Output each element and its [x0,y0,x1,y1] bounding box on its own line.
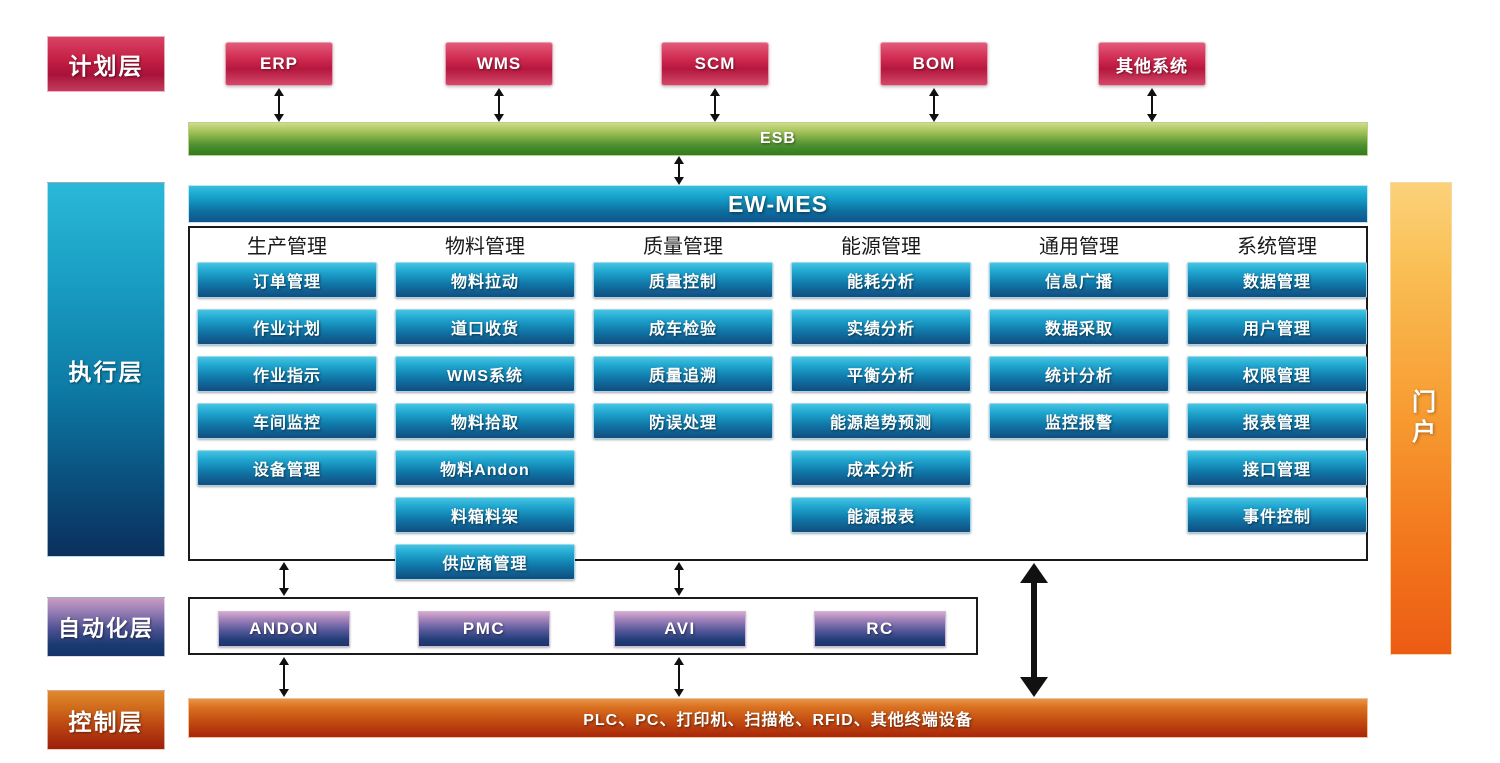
module-button-user-management[interactable]: 用户管理 [1187,309,1367,345]
module-button-performance-analysis[interactable]: 实绩分析 [791,309,971,345]
connector-bom-esb [927,88,941,122]
control-layer-bar: PLC、PC、打印机、扫描枪、RFID、其他终端设备 [188,698,1368,738]
planning-system-erp[interactable]: ERP [225,42,333,86]
mes-title: EW-MES [728,191,828,218]
module-button-data-management[interactable]: 数据管理 [1187,262,1367,298]
portal-label: 门户 [1404,389,1439,449]
module-button-wms-system[interactable]: WMS系统 [395,356,575,392]
module-button-work-plan[interactable]: 作业计划 [197,309,377,345]
module-button-quality-traceability[interactable]: 质量追溯 [593,356,773,392]
module-button-report-management[interactable]: 报表管理 [1187,403,1367,439]
planning-system-other[interactable]: 其他系统 [1098,42,1206,86]
module-column-material-title: 物料管理 [392,232,578,262]
module-button-balance-analysis[interactable]: 平衡分析 [791,356,971,392]
layer-tag-automation-label: 自动化层 [58,611,154,643]
module-column-system-title: 系统管理 [1184,232,1370,262]
module-button-material-picking[interactable]: 物料拾取 [395,403,575,439]
module-button-vehicle-inspection[interactable]: 成车检验 [593,309,773,345]
module-column-common-title: 通用管理 [986,232,1172,262]
module-column-system: 系统管理 数据管理 用户管理 权限管理 报表管理 接口管理 事件控制 [1184,228,1370,544]
mes-module-container: 生产管理 订单管理 作业计划 作业指示 车间监控 设备管理 物料管理 物料拉动 … [188,226,1368,561]
module-button-permission-management[interactable]: 权限管理 [1187,356,1367,392]
module-button-interface-management[interactable]: 接口管理 [1187,450,1367,486]
module-button-shopfloor-monitor[interactable]: 车间监控 [197,403,377,439]
automation-item-avi[interactable]: AVI [614,611,746,647]
layer-tag-plan-label: 计划层 [69,47,144,81]
connector-other-esb [1145,88,1159,122]
module-button-order-management[interactable]: 订单管理 [197,262,377,298]
module-button-equipment-management[interactable]: 设备管理 [197,450,377,486]
layer-tag-control: 控制层 [47,690,165,750]
esb-label: ESB [760,130,796,148]
connector-automation-control-left [277,657,291,697]
layer-tag-automation: 自动化层 [47,597,165,657]
layer-tag-plan: 计划层 [47,36,165,92]
module-column-energy: 能源管理 能耗分析 实绩分析 平衡分析 能源趋势预测 成本分析 能源报表 [788,228,974,544]
connector-esb-mes [672,156,686,185]
connector-erp-esb [272,88,286,122]
module-button-statistical-analysis[interactable]: 统计分析 [989,356,1169,392]
architecture-diagram: 计划层 执行层 自动化层 控制层 ERP WMS SCM BOM 其他系统 ES… [0,0,1500,763]
control-layer-label: PLC、PC、打印机、扫描枪、RFID、其他终端设备 [583,706,973,730]
layer-tag-control-label: 控制层 [69,703,144,737]
planning-system-wms[interactable]: WMS [445,42,553,86]
module-button-error-proofing[interactable]: 防误处理 [593,403,773,439]
connector-mes-automation-right [672,562,686,596]
planning-system-scm-label: SCM [695,54,736,74]
automation-item-pmc[interactable]: PMC [418,611,550,647]
planning-system-scm[interactable]: SCM [661,42,769,86]
planning-system-erp-label: ERP [260,54,298,74]
module-column-production-title: 生产管理 [194,232,380,262]
planning-system-other-label: 其他系统 [1116,52,1188,77]
module-button-energy-trend-forecast[interactable]: 能源趋势预测 [791,403,971,439]
connector-mes-automation-left [277,562,291,596]
module-button-material-andon[interactable]: 物料Andon [395,450,575,486]
module-column-common: 通用管理 信息广播 数据采取 统计分析 监控报警 [986,228,1172,450]
module-button-cost-analysis[interactable]: 成本分析 [791,450,971,486]
module-button-energy-consumption-analysis[interactable]: 能耗分析 [791,262,971,298]
mes-title-bar: EW-MES [188,185,1368,223]
connector-wms-esb [492,88,506,122]
module-button-event-control[interactable]: 事件控制 [1187,497,1367,533]
automation-item-andon[interactable]: ANDON [218,611,350,647]
module-column-quality-title: 质量管理 [590,232,776,262]
portal-panel[interactable]: 门户 [1390,182,1452,655]
automation-item-rc[interactable]: RC [814,611,946,647]
esb-bar: ESB [188,122,1368,156]
module-button-monitoring-alarm[interactable]: 监控报警 [989,403,1169,439]
connector-automation-control-right [672,657,686,697]
module-column-production: 生产管理 订单管理 作业计划 作业指示 车间监控 设备管理 [194,228,380,497]
module-button-dock-receiving[interactable]: 道口收货 [395,309,575,345]
module-button-supplier-management[interactable]: 供应商管理 [395,544,575,580]
planning-system-bom[interactable]: BOM [880,42,988,86]
connector-scm-esb [708,88,722,122]
module-button-info-broadcast[interactable]: 信息广播 [989,262,1169,298]
module-button-work-instruction[interactable]: 作业指示 [197,356,377,392]
planning-system-wms-label: WMS [477,54,522,74]
module-button-quality-control[interactable]: 质量控制 [593,262,773,298]
layer-tag-execution: 执行层 [47,182,165,557]
automation-layer-container: ANDON PMC AVI RC [188,597,978,655]
module-button-data-acquisition[interactable]: 数据采取 [989,309,1169,345]
layer-tag-execution-label: 执行层 [69,353,144,387]
module-column-energy-title: 能源管理 [788,232,974,262]
module-column-quality: 质量管理 质量控制 成车检验 质量追溯 防误处理 [590,228,776,450]
module-button-material-pull[interactable]: 物料拉动 [395,262,575,298]
module-button-bins-racks[interactable]: 料箱料架 [395,497,575,533]
connector-mes-control [1006,563,1062,697]
module-column-material: 物料管理 物料拉动 道口收货 WMS系统 物料拾取 物料Andon 料箱料架 供… [392,228,578,591]
module-button-energy-report[interactable]: 能源报表 [791,497,971,533]
planning-system-bom-label: BOM [913,54,956,74]
